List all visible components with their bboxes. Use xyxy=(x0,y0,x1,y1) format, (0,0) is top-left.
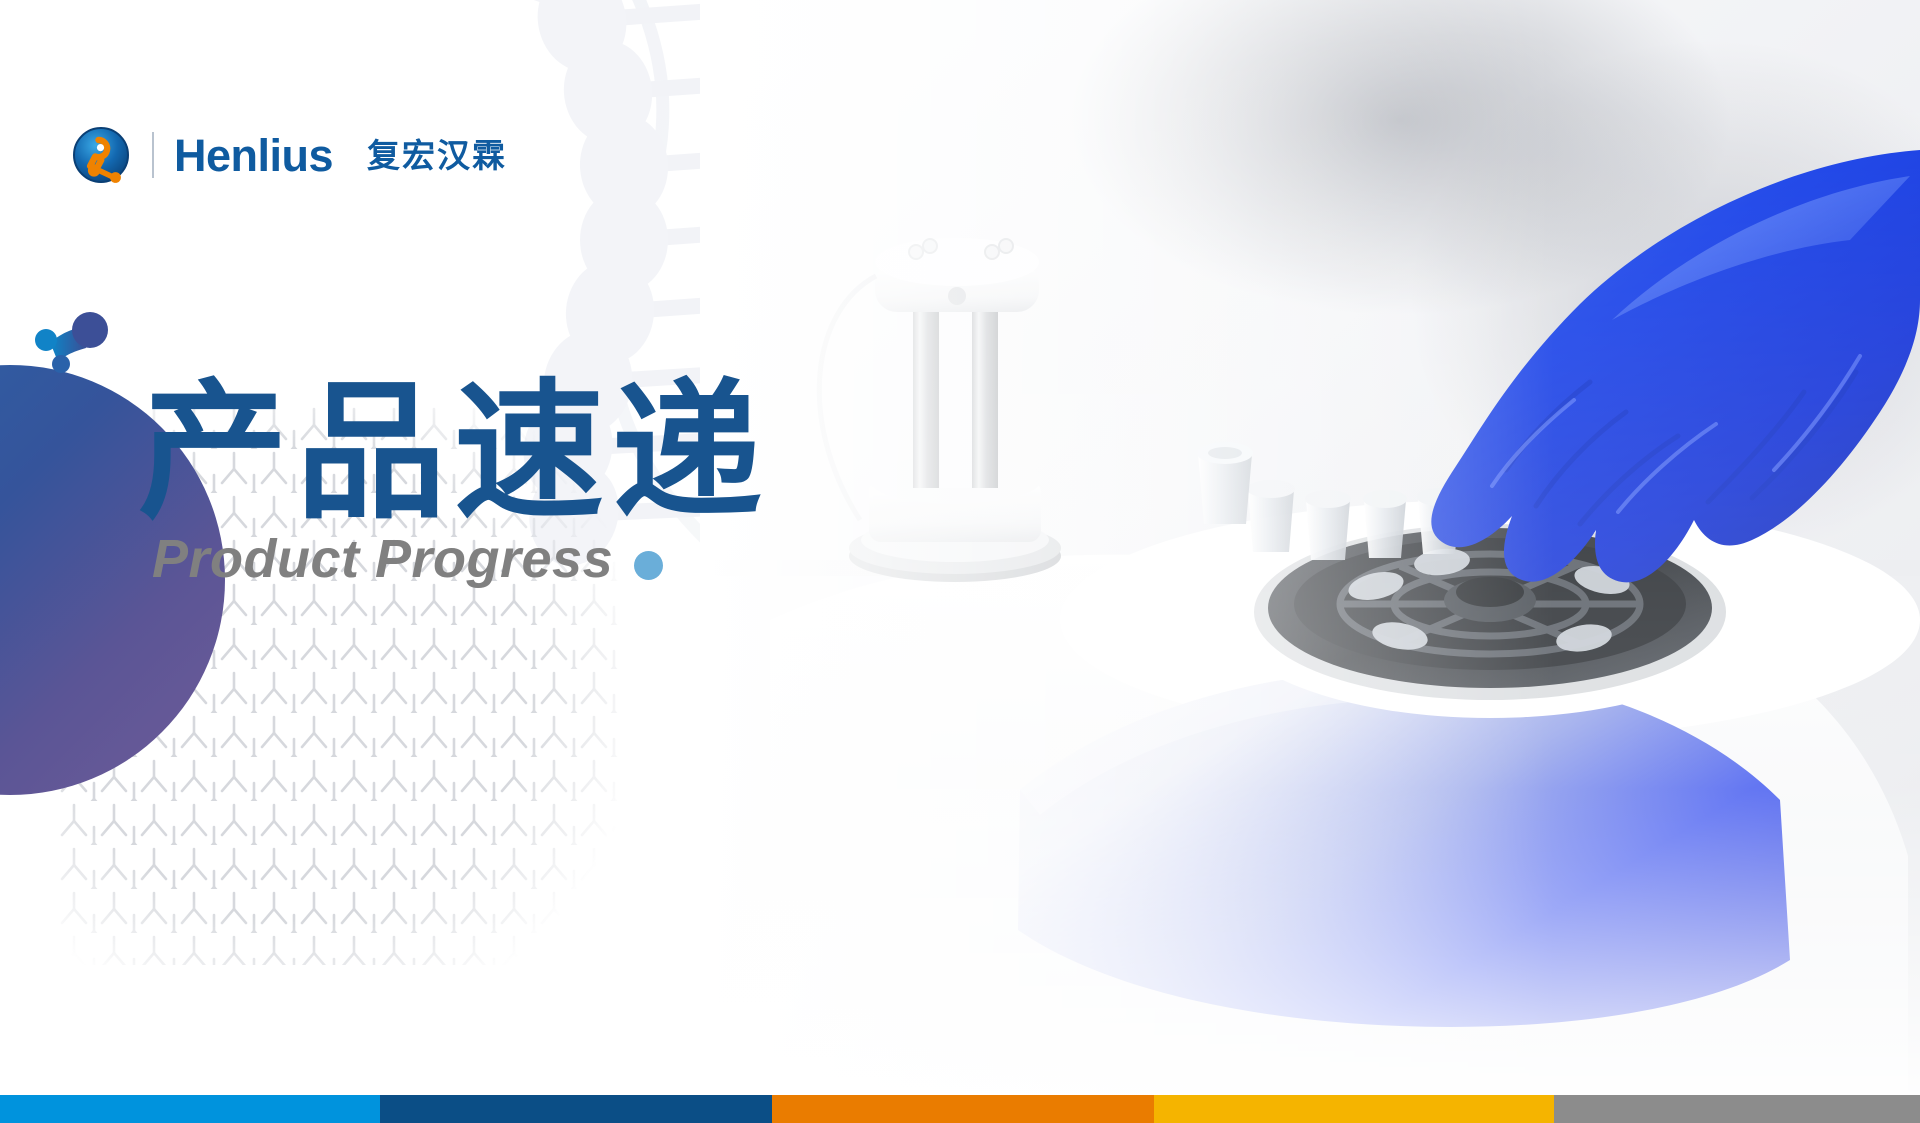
henlius-molecule-logo-icon xyxy=(72,126,130,184)
color-bar-segment-light-blue xyxy=(0,1095,380,1123)
logo-divider xyxy=(152,132,154,178)
color-bar-segment-yellow xyxy=(1154,1095,1554,1123)
slide-canvas: Henlius 复宏汉霖 xyxy=(0,0,1920,1123)
color-bar-segment-dark-blue xyxy=(380,1095,772,1123)
molecule-dumbbell-small-icon xyxy=(28,306,118,386)
laboratory-centrifuge-photo xyxy=(700,0,1920,1095)
page-title: 产品速递 xyxy=(138,372,770,534)
brand-wordmark: Henlius xyxy=(174,133,333,178)
accent-dot-icon xyxy=(634,551,663,580)
color-bar-segment-orange xyxy=(772,1095,1154,1123)
bottom-color-bar xyxy=(0,1095,1920,1123)
color-bar-segment-gray xyxy=(1554,1095,1920,1123)
brand-name-cn: 复宏汉霖 xyxy=(367,139,507,172)
page-subtitle: Product Progress xyxy=(152,528,613,590)
brand-logo[interactable]: Henlius 复宏汉霖 xyxy=(72,124,507,186)
